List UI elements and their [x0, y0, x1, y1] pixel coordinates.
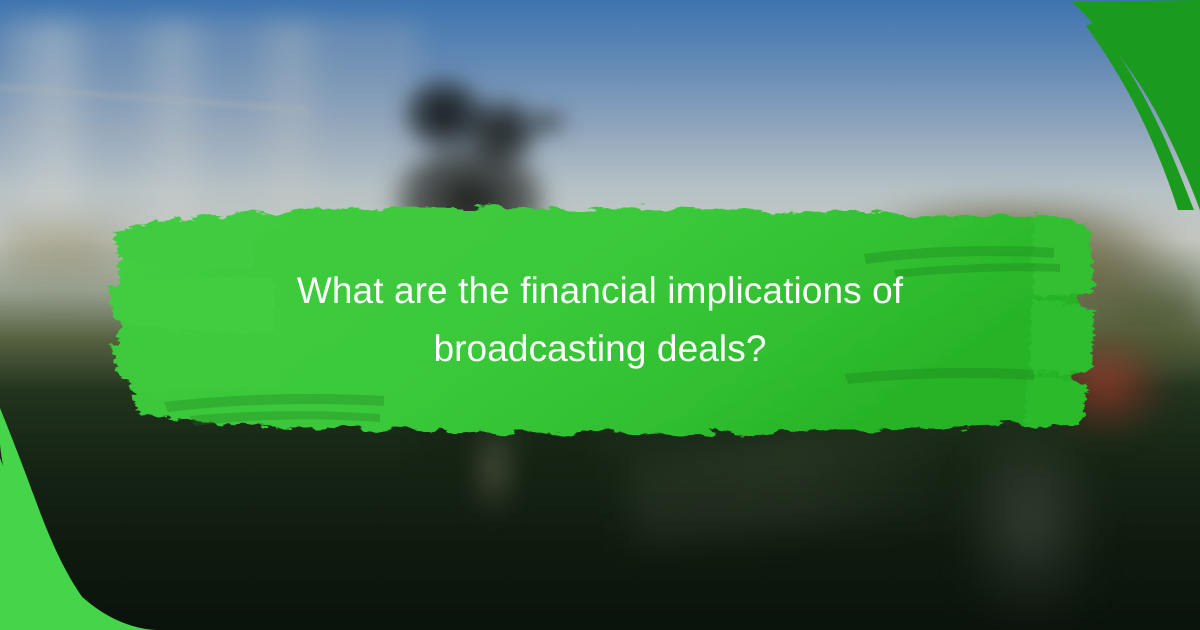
page-title: What are the financial implications of b…	[160, 262, 1040, 378]
social-card: What are the financial implications of b…	[0, 0, 1200, 630]
green-blade-top-right-icon	[1050, 0, 1200, 210]
